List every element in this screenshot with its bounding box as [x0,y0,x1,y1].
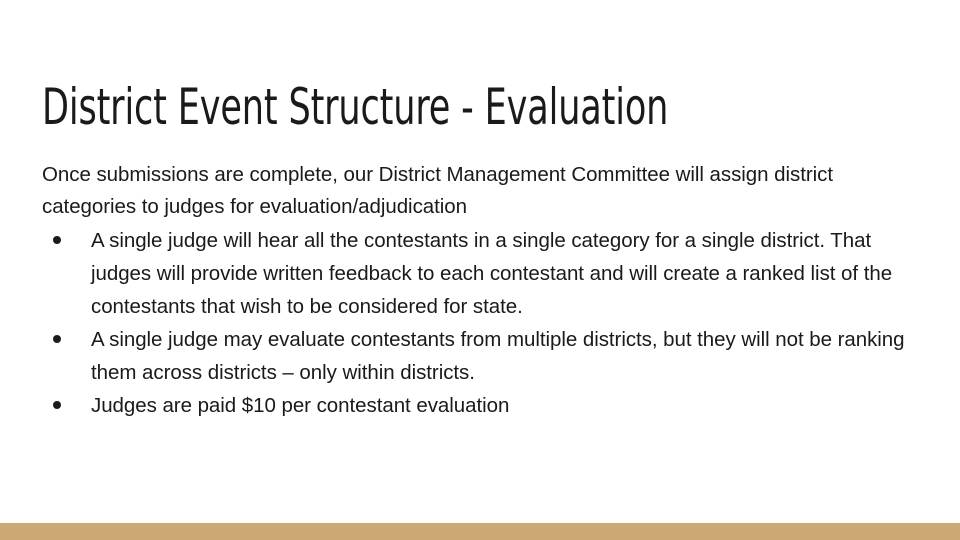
list-item-label: A single judge may evaluate contestants … [91,323,922,389]
footer-accent-bar [0,523,960,540]
intro-paragraph: Once submissions are complete, our Distr… [42,159,870,223]
bullet-list: A single judge will hear all the contest… [42,224,922,422]
page-title: District Event Structure - Evaluation [42,78,728,136]
list-item: Judges are paid $10 per contestant evalu… [42,389,922,422]
bullet-point-icon [53,401,61,409]
list-item-label: A single judge will hear all the contest… [91,224,922,323]
list-item: A single judge will hear all the contest… [42,224,922,323]
bullet-point-icon [53,236,61,244]
slide: District Event Structure - Evaluation On… [0,0,960,540]
bullet-point-icon [53,335,61,343]
list-item: A single judge may evaluate contestants … [42,323,922,389]
list-item-label: Judges are paid $10 per contestant evalu… [91,389,922,422]
